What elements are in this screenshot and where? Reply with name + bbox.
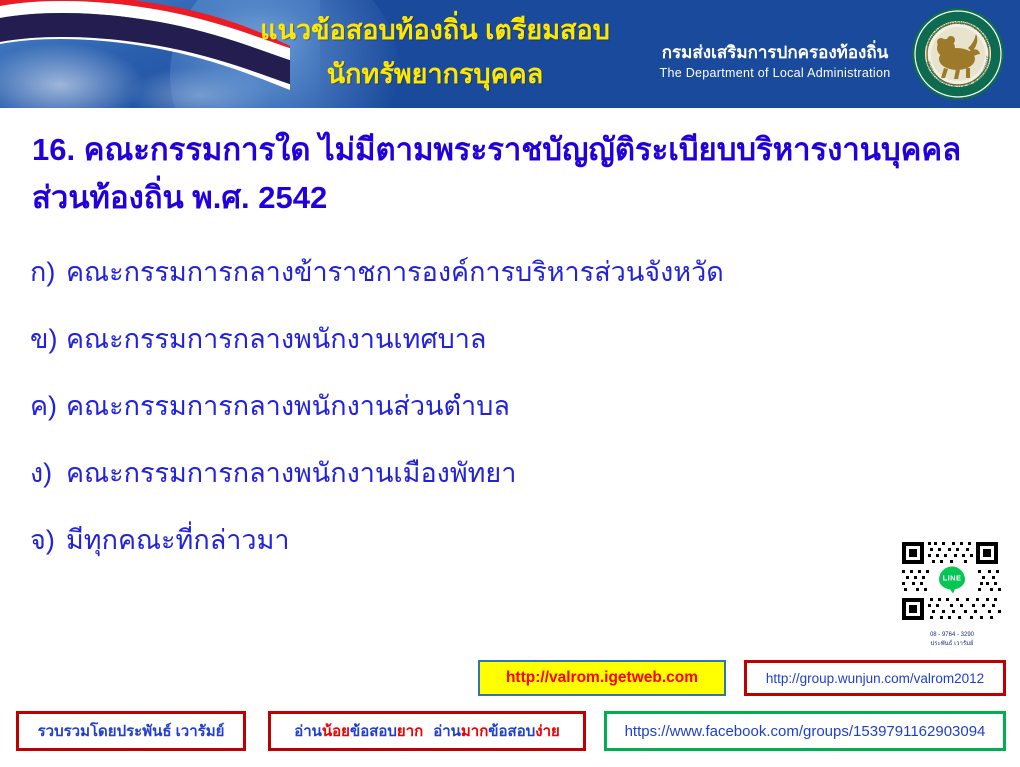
department-name-english: The Department of Local Administration [640, 64, 910, 82]
option-kho[interactable]: ค) คณะกรรมการกลางพนักงานส่วนตำบล [30, 392, 930, 459]
motto-seg-1: อ่าน [294, 723, 322, 740]
motto-text: อ่านน้อยข้อสอบยากอ่านมากข้อสอบง่าย [294, 719, 560, 743]
motto-box: อ่านน้อยข้อสอบยากอ่านมากข้อสอบง่าย [268, 711, 586, 751]
department-label: กรมส่งเสริมการปกครองท้องถิ่น The Departm… [640, 42, 910, 82]
motto-seg-8: ง่าย [535, 723, 560, 740]
motto-seg-6: มาก [461, 723, 488, 740]
link-valrom-label: http://valrom.igetweb.com [506, 669, 698, 687]
option-key: ง) [30, 459, 66, 487]
author-credit-box: รวบรวมโดยประพันธ์ เวารัมย์ [16, 711, 246, 751]
option-label: คณะกรรมการกลางข้าราชการองค์การบริหารส่วน… [66, 258, 724, 286]
option-label: คณะกรรมการกลางพนักงานเทศบาล [66, 325, 486, 353]
author-credit-label: รวบรวมโดยประพันธ์ เวารัมย์ [38, 719, 225, 743]
question-text: 16. คณะกรรมการใด ไม่มีตามพระราชบัญญัติระ… [32, 126, 982, 222]
link-wunjun-label: http://group.wunjun.com/valrom2012 [766, 671, 984, 686]
option-key: จ) [30, 526, 66, 554]
banner-title: แนวข้อสอบท้องถิ่น เตรียมสอบ นักทรัพยากรบ… [225, 8, 645, 96]
link-valrom-igetweb[interactable]: http://valrom.igetweb.com [478, 660, 726, 696]
department-seal-icon: กรมส่งเสริมการปกครองท้องถิ่น DEPARTMENT … [910, 6, 1006, 102]
option-label: คณะกรรมการกลางพนักงานส่วนตำบล [66, 392, 510, 420]
options-list: ก) คณะกรรมการกลางข้าราชการองค์การบริหารส… [30, 258, 930, 593]
line-logo-icon: LINE [937, 565, 967, 592]
line-qr-code-icon: LINE [898, 538, 1006, 630]
option-label: มีทุกคณะที่กล่าวมา [66, 526, 290, 554]
motto-seg-5: อ่าน [433, 723, 461, 740]
option-kha[interactable]: ข) คณะกรรมการกลางพนักงานเทศบาล [30, 325, 930, 392]
option-key: ก) [30, 258, 66, 286]
banner-title-line1: แนวข้อสอบท้องถิ่น เตรียมสอบ [260, 15, 610, 45]
department-name-thai: กรมส่งเสริมการปกครองท้องถิ่น [640, 42, 910, 64]
option-key: ค) [30, 392, 66, 420]
motto-seg-3: ข้อสอบ [350, 723, 397, 740]
motto-seg-2: น้อย [322, 723, 350, 740]
option-label: คณะกรรมการกลางพนักงานเมืองพัทยา [66, 459, 516, 487]
link-group-wunjun[interactable]: http://group.wunjun.com/valrom2012 [744, 660, 1006, 696]
qr-name-caption: ประพันธ์ เวารัมย์ [898, 640, 1006, 648]
option-ka[interactable]: ก) คณะกรรมการกลางข้าราชการองค์การบริหารส… [30, 258, 930, 325]
option-cho[interactable]: จ) มีทุกคณะที่กล่าวมา [30, 526, 930, 593]
line-logo-label: LINE [943, 574, 962, 583]
line-qr-block: LINE 08 - 9764 - 3290 ประพันธ์ เวารัมย์ [898, 538, 1006, 648]
option-ngo[interactable]: ง) คณะกรรมการกลางพนักงานเมืองพัทยา [30, 459, 930, 526]
option-key: ข) [30, 325, 66, 353]
banner-title-line2: นักทรัพยากรบุคคล [225, 52, 645, 96]
qr-phone-caption: 08 - 9764 - 3290 [898, 631, 1006, 639]
slide-root: แนวข้อสอบท้องถิ่น เตรียมสอบ นักทรัพยากรบ… [0, 0, 1020, 767]
motto-seg-7: ข้อสอบ [488, 723, 535, 740]
motto-seg-4: ยาก [397, 723, 423, 740]
header-banner: แนวข้อสอบท้องถิ่น เตรียมสอบ นักทรัพยากรบ… [0, 0, 1020, 108]
link-facebook-group[interactable]: https://www.facebook.com/groups/15397911… [604, 711, 1006, 751]
link-facebook-label: https://www.facebook.com/groups/15397911… [625, 723, 986, 740]
